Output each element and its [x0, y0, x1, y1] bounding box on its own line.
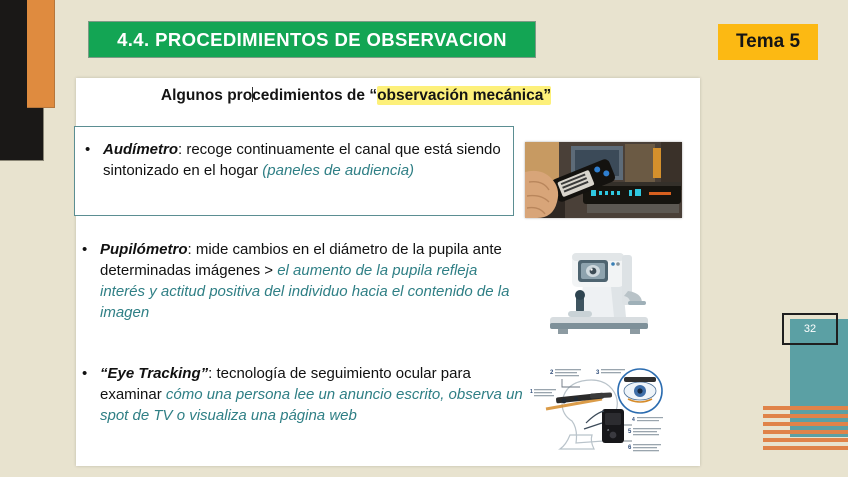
subtitle-lead: Algunos pro	[161, 87, 252, 104]
content-subtitle: Algunos procedimientos de “observación m…	[76, 87, 636, 105]
bullet-text-audimetro: Audímetro: recoge continuamente el canal…	[103, 139, 503, 181]
bullet-marker: •	[80, 239, 100, 260]
bullet-item-pupilometro: • Pupilómetro: mide cambios en el diámet…	[80, 239, 526, 323]
pupillometer-device-photo	[536, 243, 671, 341]
svg-text:4: 4	[632, 417, 635, 423]
bullet-term-pupilometro: Pupilómetro	[100, 241, 188, 258]
bullet-item-audimetro: • Audímetro: recoge continuamente el can…	[74, 126, 514, 216]
bullet-term-eye-tracking: “Eye Tracking”	[100, 365, 208, 382]
svg-text:1: 1	[530, 389, 533, 395]
slide-title-text: 4.4. PROCEDIMIENTOS DE OBSERVACION	[117, 29, 507, 51]
bullet-term-audimetro: Audímetro	[103, 141, 178, 158]
page-number: 32	[782, 313, 838, 345]
slide-canvas: 4.4. PROCEDIMIENTOS DE OBSERVACION Tema …	[0, 0, 848, 477]
bullet-marker: •	[80, 363, 100, 384]
set-top-box-remote-photo	[525, 142, 682, 218]
page-number-text: 32	[804, 323, 816, 335]
audimetro-photo	[525, 142, 682, 218]
eye-tracking-diagram: 1 2 3	[528, 363, 680, 455]
bullet-text-pupilometro: Pupilómetro: mide cambios en el diámetro…	[100, 239, 526, 323]
subtitle-mid: cedimientos de “	[252, 87, 377, 104]
bullet-item-eye-tracking: • “Eye Tracking”: tecnología de seguimie…	[80, 363, 526, 426]
pupilometro-photo	[536, 243, 671, 341]
bullet-text-eye-tracking: “Eye Tracking”: tecnología de seguimient…	[100, 363, 526, 426]
decoration-orange-bar	[27, 0, 55, 108]
tema-badge: Tema 5	[718, 24, 818, 60]
slide-title-banner: 4.4. PROCEDIMIENTOS DE OBSERVACION	[88, 21, 536, 58]
decoration-orange-stripes	[763, 406, 848, 454]
bullet-emphasis: (paneles de audiencia)	[262, 162, 414, 179]
bullet-marker: •	[83, 139, 103, 160]
subtitle-highlighted: observación mecánica”	[377, 86, 551, 105]
tema-badge-label: Tema 5	[736, 31, 800, 53]
eye-tracking-figure: 1 2 3	[528, 363, 680, 455]
bullet-colon: :	[188, 241, 196, 258]
